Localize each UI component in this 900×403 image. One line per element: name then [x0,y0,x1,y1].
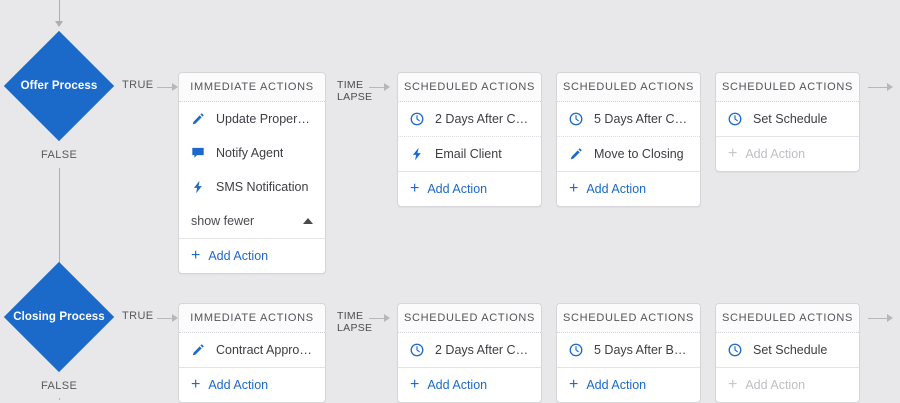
schedule-label: 2 Days After Create... [435,112,529,126]
clock-icon [728,111,746,127]
add-action-label: Add Action [208,249,268,263]
card-body: Set Schedule + Add Action [716,102,859,171]
card-header: SCHEDULED ACTIONS [398,304,541,333]
add-action-button[interactable]: + Add Action [179,238,325,273]
show-fewer-toggle[interactable]: show fewer [179,204,325,238]
show-fewer-label: show fewer [191,214,254,228]
pencil-icon [191,342,209,358]
card-body: 2 Days After Create... + Add Action [398,333,541,402]
time-lapse-line-2: LAPSE [337,322,372,334]
time-lapse-line-2: LAPSE [337,91,372,103]
decision-label: Closing Process [4,309,114,325]
card-header: IMMEDIATE ACTIONS [179,304,325,333]
clock-icon [410,342,428,358]
add-action-button[interactable]: + Add Action [716,367,859,402]
schedule-label: 5 Days After Birthdate [594,343,688,357]
card-body: 5 Days After Create... Move to Closing +… [557,102,700,206]
scheduled-actions-card[interactable]: SCHEDULED ACTIONS Set Schedule + Add Act… [715,303,860,403]
scheduled-actions-card[interactable]: SCHEDULED ACTIONS 5 Days After Birthdate… [556,303,701,403]
card-header: SCHEDULED ACTIONS [716,304,859,333]
branch-label-false: FALSE [41,380,77,392]
pencil-icon [191,111,209,127]
time-lapse-label: TIME LAPSE [337,79,372,103]
card-body: Contract Approval + Add Action [179,333,325,402]
add-action-button[interactable]: + Add Action [398,367,541,402]
schedule-row[interactable]: 2 Days After Create... [398,333,541,367]
add-action-button[interactable]: + Add Action [179,367,325,402]
action-label: Move to Closing [594,147,684,161]
schedule-row[interactable]: Set Schedule [716,333,859,367]
schedule-row[interactable]: 5 Days After Birthdate [557,333,700,367]
card-body: 2 Days After Create... Email Client + Ad… [398,102,541,206]
chat-bubble-icon [191,145,209,161]
branch-label-true: TRUE [122,79,154,91]
decision-node-offer-process[interactable]: Offer Process [4,31,114,141]
scheduled-actions-card[interactable]: SCHEDULED ACTIONS 2 Days After Create...… [397,303,542,403]
immediate-actions-card[interactable]: IMMEDIATE ACTIONS Contract Approval + Ad… [178,303,326,403]
branch-label-true: TRUE [122,310,154,322]
lightning-bolt-icon [410,146,428,162]
card-header: SCHEDULED ACTIONS [398,73,541,102]
add-action-label: Add Action [745,147,805,161]
lightning-bolt-icon [191,179,209,195]
incoming-connector-arrowhead [55,21,63,27]
schedule-row[interactable]: 5 Days After Create... [557,102,700,136]
schedule-label: 2 Days After Create... [435,343,529,357]
exit-connector-arrowhead [887,83,893,91]
card-body: 5 Days After Birthdate + Add Action [557,333,700,402]
clock-icon [569,111,587,127]
decision-node-closing-process[interactable]: Closing Process [4,262,114,372]
scheduled-actions-card[interactable]: SCHEDULED ACTIONS 2 Days After Create... [397,72,542,207]
time-lapse-line-1: TIME [337,310,363,322]
time-lapse-connector-arrowhead [384,83,390,91]
false-connector-line [59,168,60,272]
exit-connector-arrowhead [887,314,893,322]
add-action-label: Add Action [745,378,805,392]
add-action-label: Add Action [427,378,487,392]
add-action-label: Add Action [208,378,268,392]
incoming-connector-line [59,0,60,22]
time-lapse-line-1: TIME [337,79,363,91]
add-action-button[interactable]: + Add Action [716,136,859,171]
add-action-button[interactable]: + Add Action [557,171,700,206]
action-row[interactable]: Update Property O... [179,102,325,136]
add-action-button[interactable]: + Add Action [557,367,700,402]
schedule-row[interactable]: Set Schedule [716,102,859,136]
clock-icon [410,111,428,127]
card-header: SCHEDULED ACTIONS [557,73,700,102]
clock-icon [569,342,587,358]
action-row[interactable]: SMS Notification [179,170,325,204]
action-label: Email Client [435,147,502,161]
add-action-label: Add Action [586,182,646,196]
add-action-label: Add Action [586,378,646,392]
time-lapse-connector-arrowhead [384,314,390,322]
immediate-actions-card[interactable]: IMMEDIATE ACTIONS Update Property O... N… [178,72,326,274]
time-lapse-label: TIME LAPSE [337,310,372,334]
clock-icon [728,342,746,358]
decision-label: Offer Process [4,78,114,94]
action-label: Contract Approval [216,343,313,357]
action-row[interactable]: Move to Closing [557,136,700,171]
card-body: Set Schedule + Add Action [716,333,859,402]
scheduled-actions-card[interactable]: SCHEDULED ACTIONS 5 Days After Create... [556,72,701,207]
card-body: Update Property O... Notify Agent SMS No… [179,102,325,273]
schedule-row[interactable]: 2 Days After Create... [398,102,541,136]
schedule-label: Set Schedule [753,112,827,126]
action-label: Notify Agent [216,146,283,160]
card-header: IMMEDIATE ACTIONS [179,73,325,102]
action-label: SMS Notification [216,180,308,194]
schedule-label: 5 Days After Create... [594,112,688,126]
chevron-up-icon [303,218,313,224]
branch-label-false: FALSE [41,149,77,161]
card-header: SCHEDULED ACTIONS [557,304,700,333]
add-action-label: Add Action [427,182,487,196]
action-row[interactable]: Notify Agent [179,136,325,170]
scheduled-actions-card[interactable]: SCHEDULED ACTIONS Set Schedule + Add Act… [715,72,860,172]
action-row[interactable]: Contract Approval [179,333,325,367]
workflow-canvas: Offer Process TRUE FALSE IMMEDIATE ACTIO… [0,0,900,400]
card-header: SCHEDULED ACTIONS [716,73,859,102]
action-label: Update Property O... [216,112,313,126]
action-row[interactable]: Email Client [398,136,541,171]
pencil-icon [569,146,587,162]
add-action-button[interactable]: + Add Action [398,171,541,206]
schedule-label: Set Schedule [753,343,827,357]
